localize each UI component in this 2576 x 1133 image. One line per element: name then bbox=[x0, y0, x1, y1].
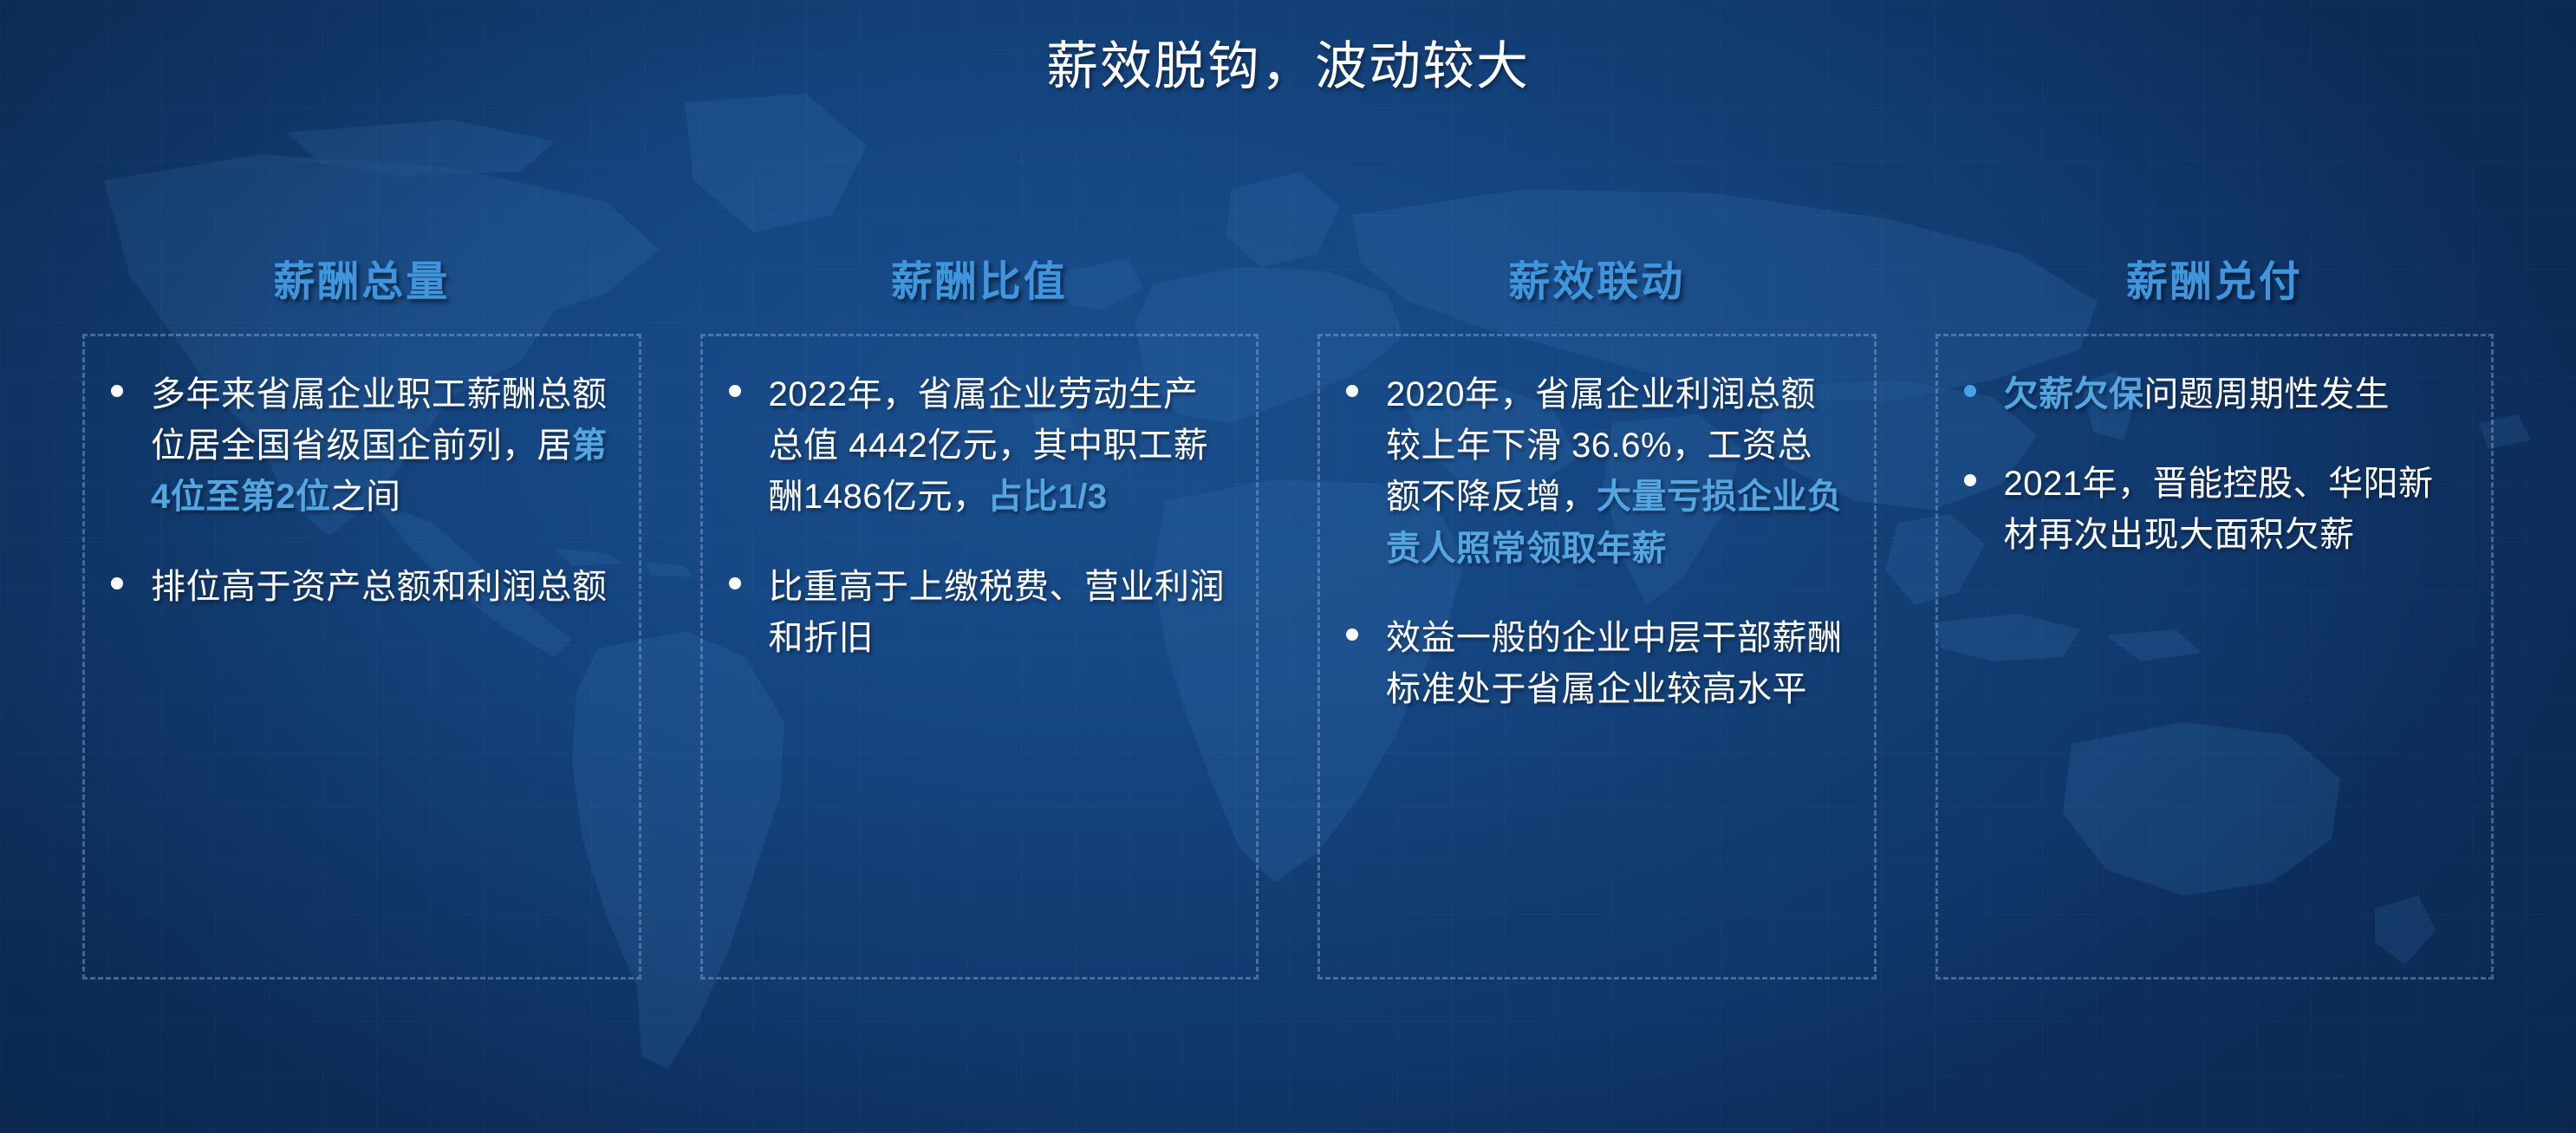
bullet-item: 多年来省属企业职工薪酬总额位居全国省级国企前列，居第4位至第2位之间 bbox=[111, 369, 613, 524]
bullet-marker bbox=[1346, 613, 1386, 645]
bullet-item: 欠薪欠保问题周期性发生 bbox=[1964, 369, 2466, 420]
bullet-seg: 比重高于上缴税费、营业利润和折旧 bbox=[769, 568, 1226, 657]
bullet-marker bbox=[1964, 459, 2004, 491]
column-salary-ratio: 薪酬比值 2022年，省属企业劳动生产总值 4442亿元，其中职工薪酬1486亿… bbox=[700, 221, 1259, 980]
column-body-3: 2020年，省属企业利润总额较上年下滑 36.6%，工资总额不降反增，大量亏损企… bbox=[1317, 334, 1877, 980]
bullet-item: 2020年，省属企业利润总额较上年下滑 36.6%，工资总额不降反增，大量亏损企… bbox=[1346, 369, 1848, 575]
column-header-4: 薪酬兑付 bbox=[1935, 221, 2495, 334]
bullet-marker bbox=[111, 369, 151, 401]
bullet-seg: 之间 bbox=[331, 478, 401, 516]
bullet-item: 2022年，省属企业劳动生产总值 4442亿元，其中职工薪酬1486亿元，占比1… bbox=[729, 369, 1231, 524]
bullet-item: 排位高于资产总额和利润总额 bbox=[111, 562, 613, 613]
column-header-3: 薪效联动 bbox=[1317, 221, 1877, 334]
bullet-text: 比重高于上缴税费、营业利润和折旧 bbox=[769, 562, 1231, 664]
bullet-marker bbox=[111, 562, 151, 594]
bullet-text: 排位高于资产总额和利润总额 bbox=[151, 562, 613, 613]
bullet-seg: 排位高于资产总额和利润总额 bbox=[151, 568, 608, 606]
bullet-marker bbox=[729, 369, 769, 401]
bullet-seg: 问题周期性发生 bbox=[2144, 375, 2391, 413]
bullet-item: 2021年，晋能控股、华阳新材再次出现大面积欠薪 bbox=[1964, 459, 2466, 561]
bullet-text: 2020年，省属企业利润总额较上年下滑 36.6%，工资总额不降反增，大量亏损企… bbox=[1386, 369, 1848, 575]
slide-root: 薪效脱钩，波动较大 薪酬总量 多年来省属企业职工薪酬总额位居全国省级国企前列，居… bbox=[0, 0, 2576, 1133]
column-body-4: 欠薪欠保问题周期性发生 2021年，晋能控股、华阳新材再次出现大面积欠薪 bbox=[1935, 334, 2495, 980]
bullet-seg: 效益一般的企业中层干部薪酬标准处于省属企业较高水平 bbox=[1386, 619, 1843, 708]
page-title: 薪效脱钩，波动较大 bbox=[0, 24, 2576, 100]
column-salary-payment: 薪酬兑付 欠薪欠保问题周期性发生 2021年，晋能控股、华阳新材再次出现大面积欠… bbox=[1935, 221, 2495, 980]
bullet-text: 2022年，省属企业劳动生产总值 4442亿元，其中职工薪酬1486亿元，占比1… bbox=[769, 369, 1231, 524]
bullet-seg-highlight: 占比1/3 bbox=[987, 478, 1107, 516]
bullet-marker bbox=[1964, 369, 2004, 401]
column-header-2: 薪酬比值 bbox=[700, 221, 1259, 334]
columns-container: 薪酬总量 多年来省属企业职工薪酬总额位居全国省级国企前列，居第4位至第2位之间 … bbox=[82, 221, 2494, 980]
bullet-seg: 多年来省属企业职工薪酬总额位居全国省级国企前列，居 bbox=[151, 375, 608, 465]
bullet-text: 2021年，晋能控股、华阳新材再次出现大面积欠薪 bbox=[2004, 459, 2466, 561]
bullet-seg-highlight: 欠薪欠保 bbox=[2004, 375, 2144, 413]
column-header-1: 薪酬总量 bbox=[82, 221, 641, 334]
column-body-1: 多年来省属企业职工薪酬总额位居全国省级国企前列，居第4位至第2位之间 排位高于资… bbox=[82, 334, 641, 980]
bullet-seg: 2021年，晋能控股、华阳新材再次出现大面积欠薪 bbox=[2004, 465, 2434, 554]
bullet-marker bbox=[1346, 369, 1386, 401]
bullet-text: 多年来省属企业职工薪酬总额位居全国省级国企前列，居第4位至第2位之间 bbox=[151, 369, 613, 524]
bullet-text: 欠薪欠保问题周期性发生 bbox=[2004, 369, 2466, 420]
column-body-2: 2022年，省属企业劳动生产总值 4442亿元，其中职工薪酬1486亿元，占比1… bbox=[700, 334, 1259, 980]
column-pay-performance-link: 薪效联动 2020年，省属企业利润总额较上年下滑 36.6%，工资总额不降反增，… bbox=[1317, 221, 1877, 980]
bullet-item: 比重高于上缴税费、营业利润和折旧 bbox=[729, 562, 1231, 664]
bullet-marker bbox=[729, 562, 769, 594]
column-salary-total: 薪酬总量 多年来省属企业职工薪酬总额位居全国省级国企前列，居第4位至第2位之间 … bbox=[82, 221, 641, 980]
bullet-text: 效益一般的企业中层干部薪酬标准处于省属企业较高水平 bbox=[1386, 613, 1848, 715]
bullet-item: 效益一般的企业中层干部薪酬标准处于省属企业较高水平 bbox=[1346, 613, 1848, 715]
